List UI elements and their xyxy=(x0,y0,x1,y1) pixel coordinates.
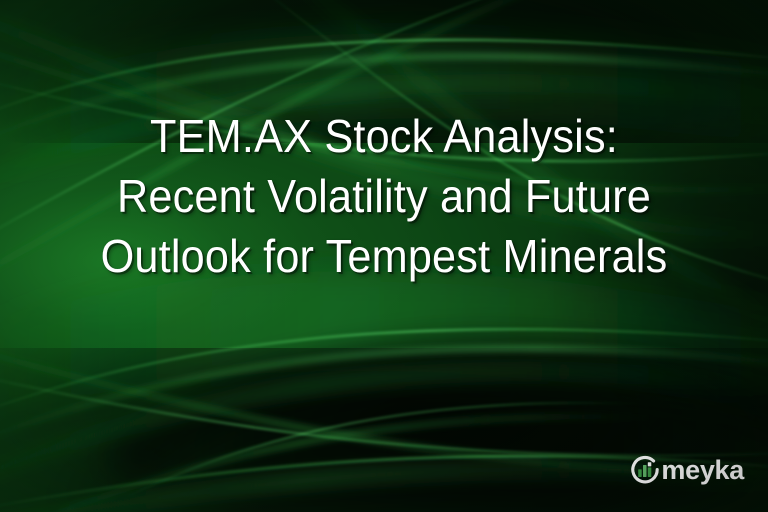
banner-title: TEM.AX Stock Analysis: Recent Volatility… xyxy=(0,106,768,286)
title-line-2: Recent Volatility and Future xyxy=(47,166,720,226)
meyka-wordmark: meyka xyxy=(661,457,744,486)
hero-banner: TEM.AX Stock Analysis: Recent Volatility… xyxy=(0,0,768,512)
meyka-logo[interactable]: meyka xyxy=(628,454,744,488)
title-line-3: Outlook for Tempest Minerals xyxy=(47,226,720,286)
title-line-1: TEM.AX Stock Analysis: xyxy=(47,106,720,166)
circular-bar-chart-logo-icon xyxy=(628,454,662,488)
